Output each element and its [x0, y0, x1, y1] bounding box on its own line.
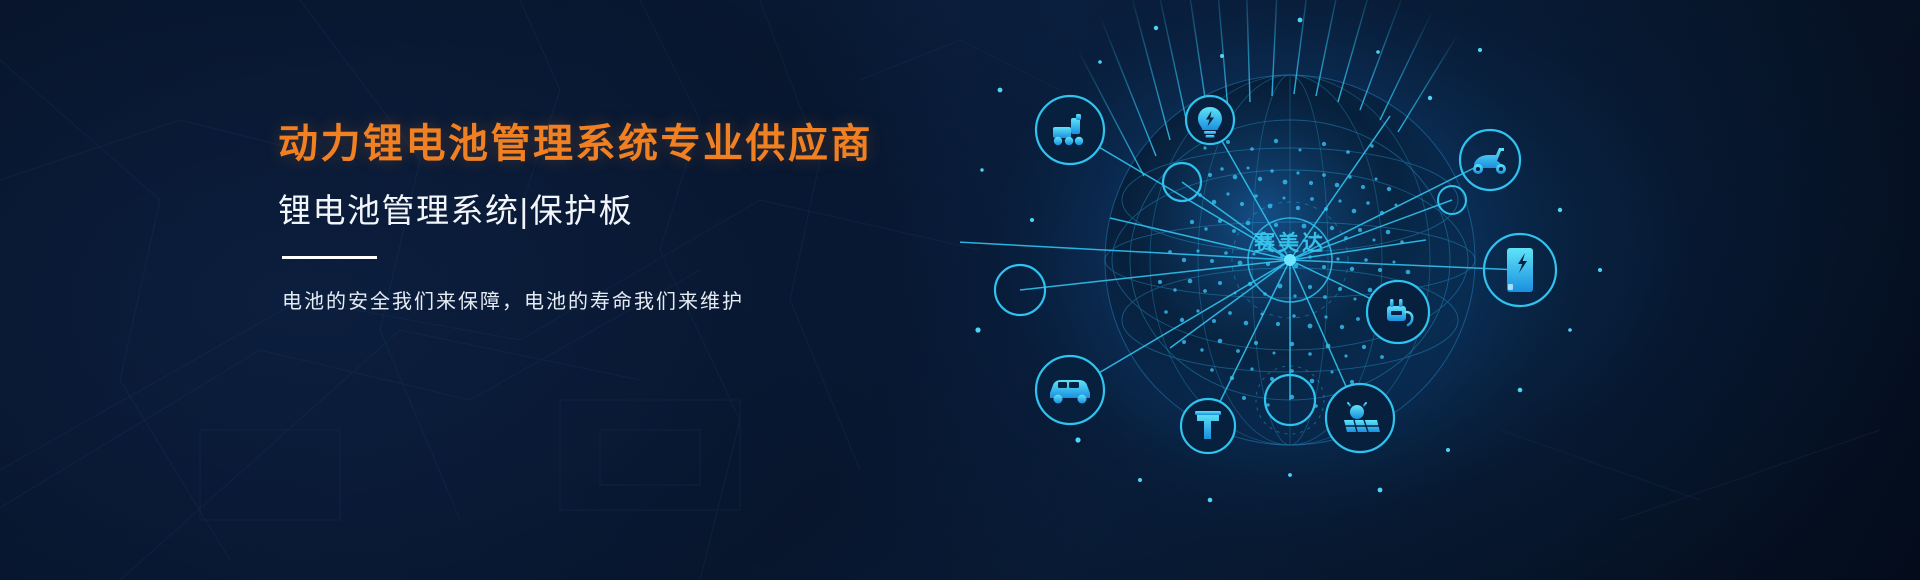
page-subtitle: 锂电池管理系统|保护板	[278, 192, 1038, 230]
node-tricycle[interactable]	[1036, 96, 1104, 164]
node-power-plug[interactable]	[1367, 281, 1429, 343]
title-divider	[282, 256, 377, 259]
hero-banner: 动力锂电池管理系统专业供应商 锂电池管理系统|保护板 电池的安全我们来保障，电池…	[0, 0, 1920, 580]
page-tagline: 电池的安全我们来保障，电池的寿命我们来维护	[282, 285, 1038, 314]
hero-text-block: 动力锂电池管理系统专业供应商 锂电池管理系统|保护板 电池的安全我们来保障，电池…	[278, 122, 1038, 314]
phone-battery-icon	[1507, 248, 1533, 292]
globe-graphic: 赛美达	[960, 0, 1920, 580]
node-solar-panel[interactable]	[1326, 384, 1394, 452]
node-power-tool[interactable]	[1181, 399, 1235, 453]
node-car[interactable]	[1036, 356, 1104, 424]
node-lightbulb[interactable]	[1186, 96, 1234, 144]
globe-brand-label: 赛美达	[1253, 231, 1326, 255]
page-title: 动力锂电池管理系统专业供应商	[278, 122, 1038, 166]
globe-svg: 赛美达	[960, 0, 1920, 580]
